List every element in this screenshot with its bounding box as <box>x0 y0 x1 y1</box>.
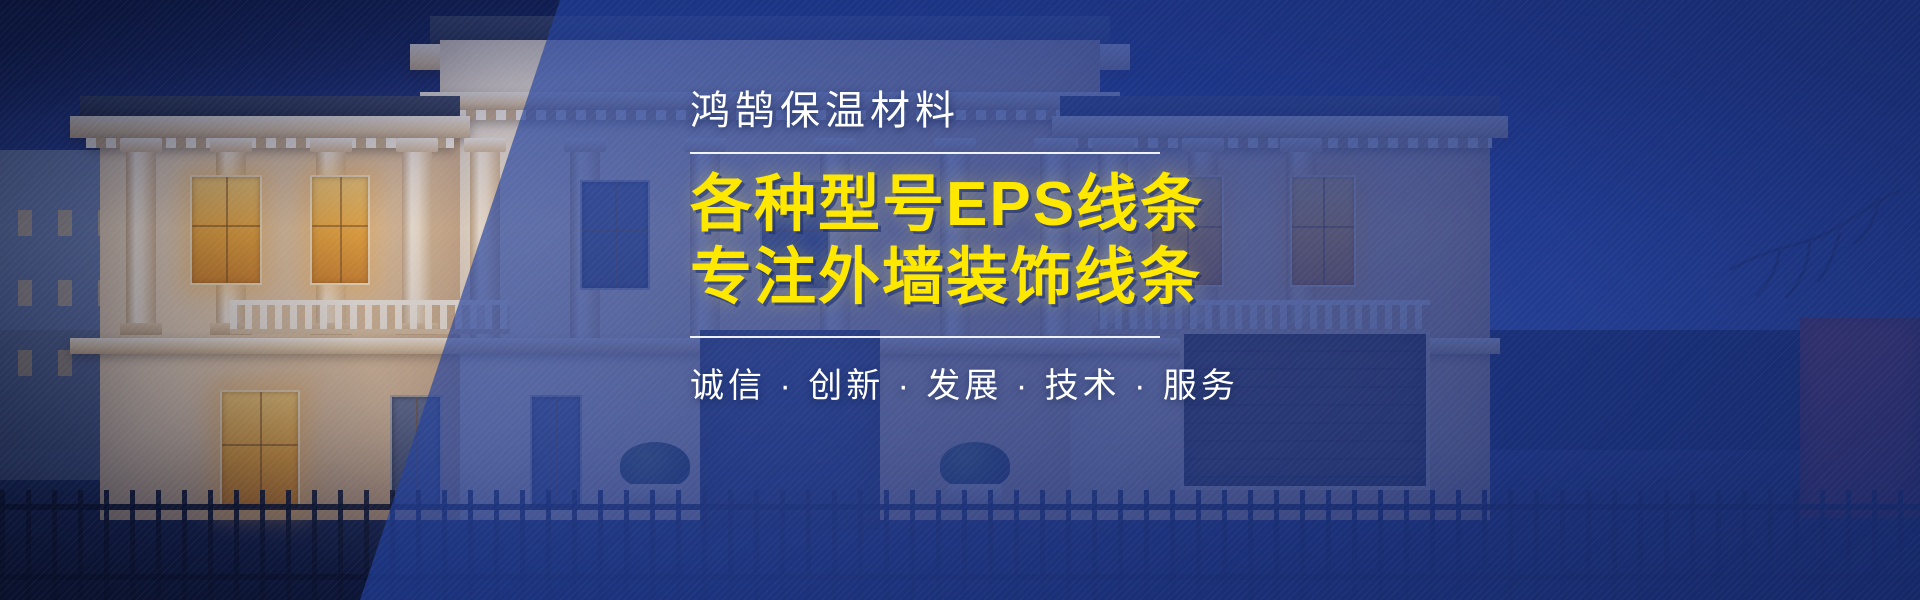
promo-banner: 鸿鹄保温材料 各种型号EPS线条 专注外墙装饰线条 诚信 · 创新 · 发展 ·… <box>0 0 1920 600</box>
headline-line-2: 专注外墙装饰线条 <box>690 241 1430 314</box>
divider-bottom <box>690 336 1160 338</box>
brand-name: 鸿鹄保温材料 <box>690 86 1430 136</box>
tagline: 诚信 · 创新 · 发展 · 技术 · 服务 <box>690 358 1430 407</box>
banner-copy: 鸿鹄保温材料 各种型号EPS线条 专注外墙装饰线条 诚信 · 创新 · 发展 ·… <box>690 86 1430 407</box>
divider-top <box>690 152 1160 154</box>
headline-line-1: 各种型号EPS线条 <box>690 168 1430 241</box>
